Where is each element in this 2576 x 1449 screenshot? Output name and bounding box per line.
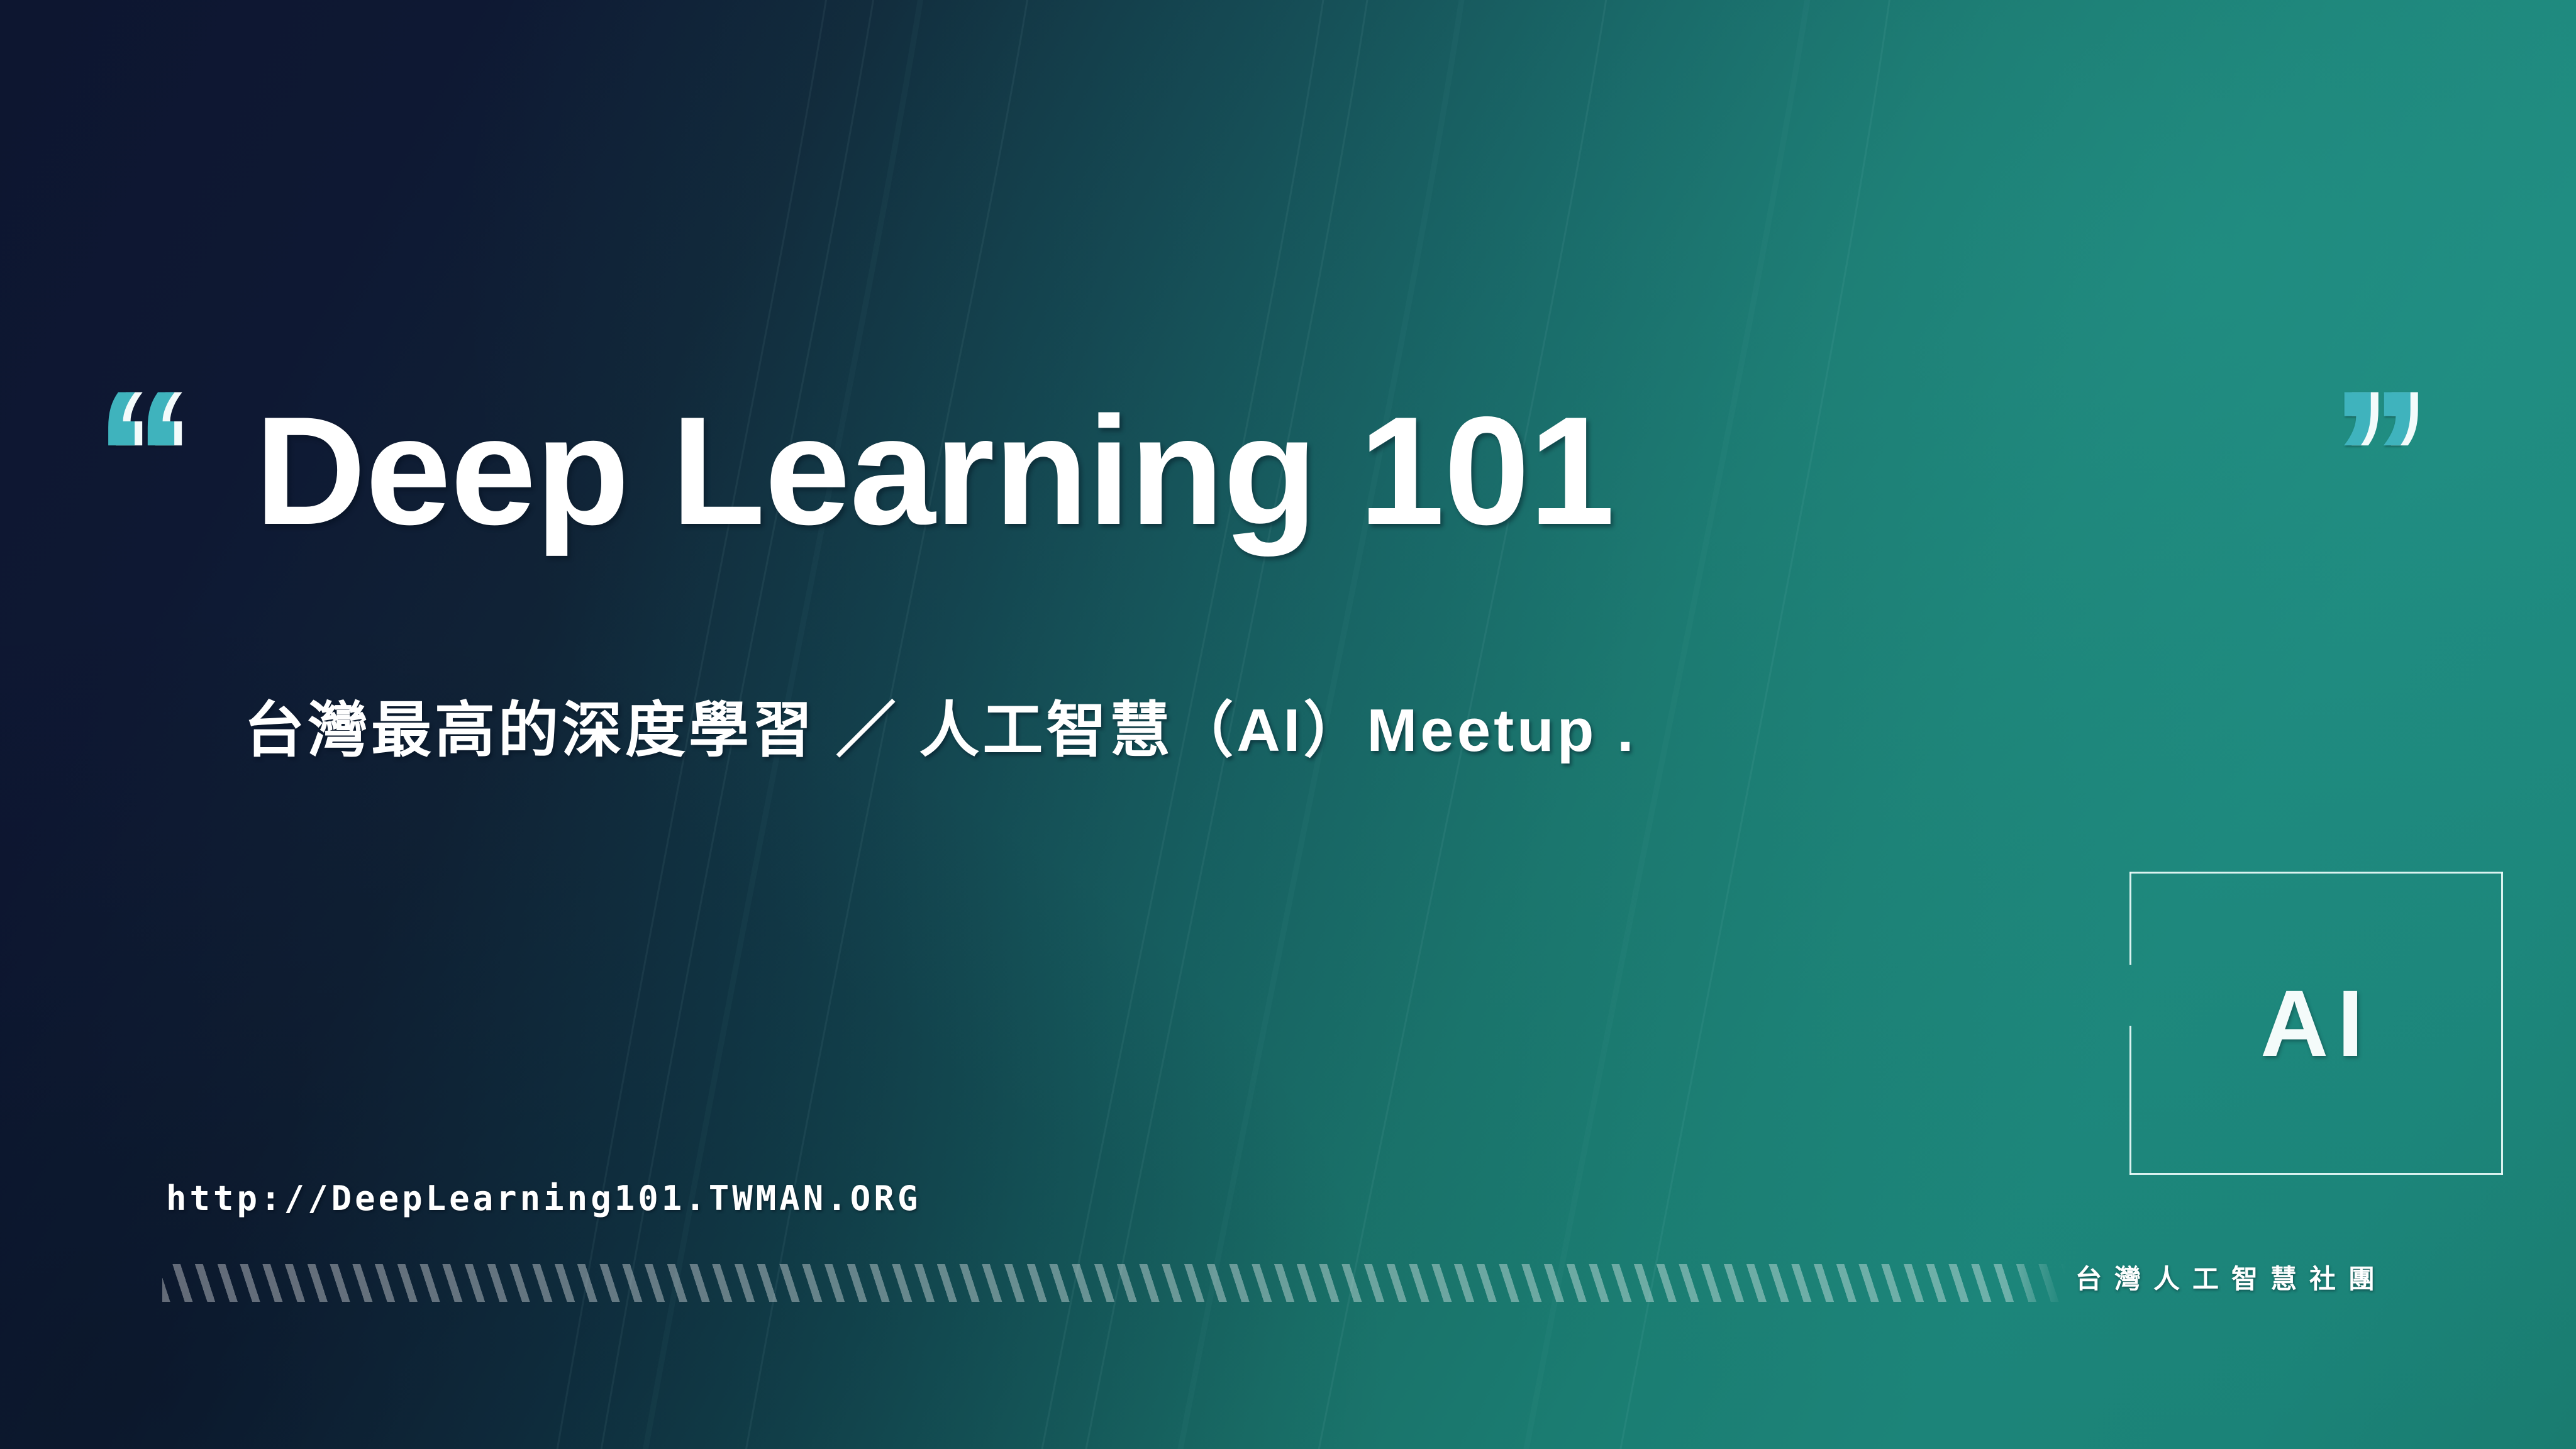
page-title: Deep Learning 101	[255, 394, 1614, 548]
website-url[interactable]: http://DeepLearning101.TWMAN.ORG	[166, 1179, 921, 1218]
headline-block: “ Deep Learning 101 ”	[94, 400, 2484, 589]
logo-border-bottom	[2129, 1173, 2503, 1175]
banner-canvas: “ Deep Learning 101 ” 台灣最高的深度學習 ／ 人工智慧（A…	[0, 0, 2576, 1449]
logo-border-top	[2129, 872, 2503, 874]
ai-logo-text: AI	[2129, 976, 2503, 1070]
ai-logo-mark: AI	[2129, 872, 2503, 1175]
diagonal-hatch-rule	[162, 1264, 2065, 1302]
close-quote-icon: ”	[2330, 362, 2421, 551]
open-quote-icon: “	[94, 362, 185, 551]
organization-name: 台灣人工智慧社團	[2075, 1258, 2387, 1296]
logo-border-left-upper	[2129, 872, 2131, 965]
subtitle: 台灣最高的深度學習 ／ 人工智慧（AI）Meetup .	[244, 695, 1637, 766]
